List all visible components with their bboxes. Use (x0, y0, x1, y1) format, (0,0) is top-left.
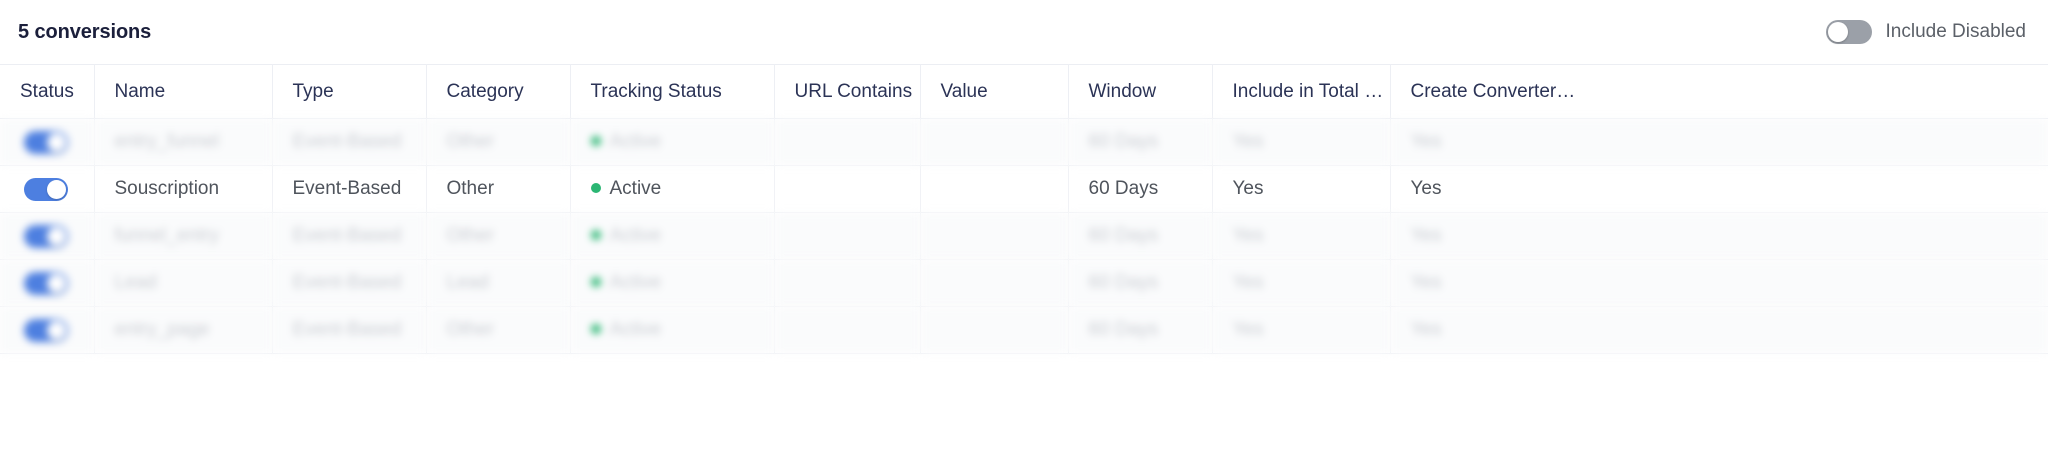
toolbar-right-group: Include Disabled (1826, 20, 2026, 44)
row-status-toggle[interactable] (24, 131, 68, 154)
cell-status (0, 166, 94, 213)
cell-window: 60 Days (1068, 213, 1212, 260)
table-header: Status Name Type Category Tracking Statu… (0, 65, 2048, 119)
cell-type: Event-Based (272, 119, 426, 166)
cell-url-contains (774, 307, 920, 354)
cell-include-in-total: Yes (1212, 213, 1390, 260)
toggle-knob (1828, 22, 1848, 42)
cell-value (920, 307, 1068, 354)
table-row[interactable]: LeadEvent-BasedLeadActive60 DaysYesYes (0, 260, 2048, 307)
cell-category: Other (426, 213, 570, 260)
cell-tracking-status: Active (570, 213, 774, 260)
cell-value (920, 260, 1068, 307)
cell-value (920, 213, 1068, 260)
tracking-status-text: Active (610, 272, 662, 293)
toggle-knob (47, 180, 66, 199)
cell-window: 60 Days (1068, 260, 1212, 307)
table-row[interactable]: entry_funnelEvent-BasedOtherActive60 Day… (0, 119, 2048, 166)
cell-name: Lead (94, 260, 272, 307)
column-header-include-in-total[interactable]: Include in Total C… (1212, 65, 1390, 119)
row-status-toggle[interactable] (24, 319, 68, 342)
cell-include-in-total: Yes (1212, 307, 1390, 354)
tracking-status-text: Active (610, 225, 662, 246)
cell-type: Event-Based (272, 166, 426, 213)
cell-value (920, 166, 1068, 213)
cell-status (0, 213, 94, 260)
cell-include-in-total: Yes (1212, 166, 1390, 213)
cell-url-contains (774, 166, 920, 213)
toggle-knob (47, 227, 66, 246)
row-status-toggle[interactable] (24, 272, 68, 295)
column-header-value[interactable]: Value (920, 65, 1068, 119)
status-dot-icon (591, 277, 601, 287)
column-header-url-contains[interactable]: URL Contains (774, 65, 920, 119)
column-header-window[interactable]: Window (1068, 65, 1212, 119)
cell-create-converter: Yes (1390, 119, 2048, 166)
cell-type: Event-Based (272, 213, 426, 260)
tracking-status-text: Active (610, 131, 662, 152)
column-header-category[interactable]: Category (426, 65, 570, 119)
cell-name: funnel_entry (94, 213, 272, 260)
cell-create-converter: Yes (1390, 307, 2048, 354)
cell-value (920, 119, 1068, 166)
column-header-name[interactable]: Name (94, 65, 272, 119)
column-header-create-converter[interactable]: Create Converter… (1390, 65, 2048, 119)
column-header-tracking-status[interactable]: Tracking Status (570, 65, 774, 119)
column-header-status[interactable]: Status (0, 65, 94, 119)
table-body: entry_funnelEvent-BasedOtherActive60 Day… (0, 119, 2048, 354)
cell-type: Event-Based (272, 307, 426, 354)
cell-tracking-status: Active (570, 260, 774, 307)
cell-create-converter: Yes (1390, 166, 2048, 213)
cell-url-contains (774, 260, 920, 307)
conversions-table-panel: 5 conversions Include Disabled Status Na… (0, 0, 2048, 467)
cell-category: Other (426, 166, 570, 213)
cell-category: Other (426, 119, 570, 166)
tracking-status-text: Active (610, 319, 662, 340)
table-row[interactable]: funnel_entryEvent-BasedOtherActive60 Day… (0, 213, 2048, 260)
cell-status (0, 260, 94, 307)
status-dot-icon (591, 230, 601, 240)
conversions-count-label: 5 conversions (18, 21, 151, 44)
cell-type: Event-Based (272, 260, 426, 307)
cell-window: 60 Days (1068, 166, 1212, 213)
cell-create-converter: Yes (1390, 260, 2048, 307)
cell-tracking-status: Active (570, 166, 774, 213)
status-dot-icon (591, 324, 601, 334)
toggle-knob (47, 133, 66, 152)
status-dot-icon (591, 183, 601, 193)
cell-url-contains (774, 213, 920, 260)
cell-name: entry_page (94, 307, 272, 354)
cell-status (0, 307, 94, 354)
table-header-row: Status Name Type Category Tracking Statu… (0, 65, 2048, 119)
cell-category: Other (426, 307, 570, 354)
row-status-toggle[interactable] (24, 225, 68, 248)
cell-tracking-status: Active (570, 119, 774, 166)
cell-create-converter: Yes (1390, 213, 2048, 260)
cell-window: 60 Days (1068, 307, 1212, 354)
cell-name: entry_funnel (94, 119, 272, 166)
cell-tracking-status: Active (570, 307, 774, 354)
toggle-knob (47, 274, 66, 293)
column-header-type[interactable]: Type (272, 65, 426, 119)
cell-url-contains (774, 119, 920, 166)
status-dot-icon (591, 136, 601, 146)
cell-category: Lead (426, 260, 570, 307)
cell-include-in-total: Yes (1212, 260, 1390, 307)
table-row[interactable]: SouscriptionEvent-BasedOtherActive60 Day… (0, 166, 2048, 213)
cell-status (0, 119, 94, 166)
cell-name: Souscription (94, 166, 272, 213)
cell-window: 60 Days (1068, 119, 1212, 166)
include-disabled-label: Include Disabled (1886, 21, 2026, 43)
row-status-toggle[interactable] (24, 178, 68, 201)
toggle-knob (47, 321, 66, 340)
table-toolbar: 5 conversions Include Disabled (0, 0, 2048, 64)
conversions-table: Status Name Type Category Tracking Statu… (0, 64, 2048, 354)
tracking-status-text: Active (610, 178, 662, 199)
include-disabled-toggle[interactable] (1826, 20, 1872, 44)
table-row[interactable]: entry_pageEvent-BasedOtherActive60 DaysY… (0, 307, 2048, 354)
cell-include-in-total: Yes (1212, 119, 1390, 166)
